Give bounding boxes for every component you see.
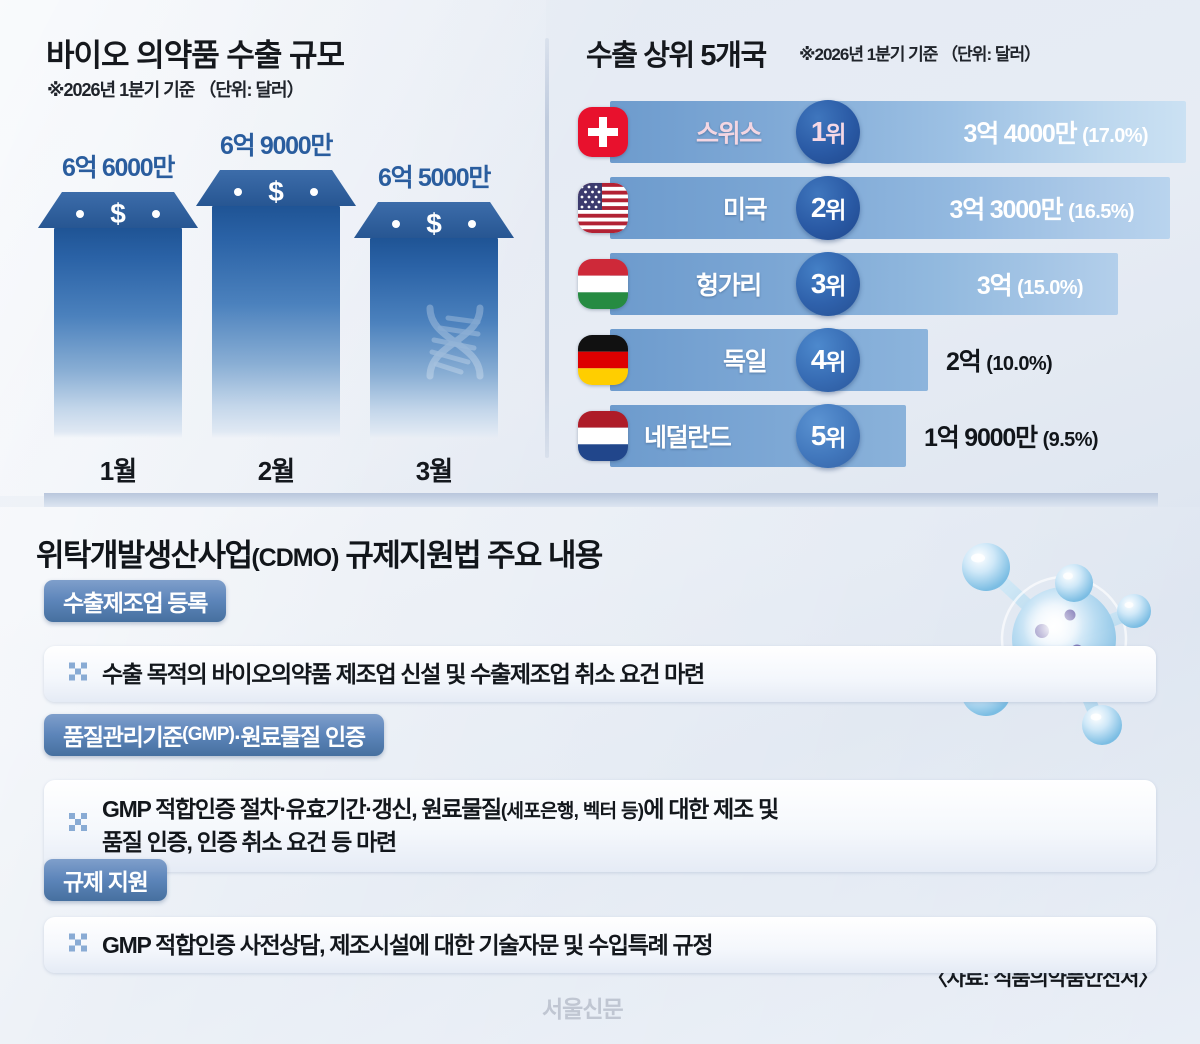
rank-number-3: 3 [811,268,825,300]
bar-body-jan [54,228,182,438]
cdmo-title-rest: 규제지원법 주요 내용 [338,538,601,573]
bar-label-feb: 2월 [258,451,294,488]
cdmo-law-panel: 위탁개발생산사업(CDMO) 규제지원법 주요 내용 수출제조업 등록 수출 목… [0,507,1200,1044]
rank-row-1[interactable]: 스위스 1위 3억 4000만 (17.0%) [568,101,1186,163]
flag-hungary-icon [578,259,628,309]
rank-number-1: 1 [811,116,825,148]
top5-countries-panel: 수출 상위 5개국 ※2026년 1분기 기준 （단위: 달러） 스위스 1위 … [546,0,1200,496]
rank-bar-4 [610,329,928,391]
bar-body-feb [212,206,340,438]
country-name-5: 네덜란드 [644,418,730,454]
bar-group-jan: 6억 6000만 $ 1월 [54,192,182,438]
section-tag-regulatory-support: 규제 지원 [44,859,167,901]
bar-label-mar: 3월 [416,451,452,488]
section-tag-label-2-main: 품질관리기준 [63,718,182,752]
bar-group-feb: 6억 9000만 $ 2월 [212,170,340,438]
svg-text:$: $ [110,198,126,229]
flag-germany-icon [578,335,628,385]
section-tag-gmp-certification: 품질관리기준(GMP)·원료물질 인증 [44,714,384,756]
rank-value-amount-1: 3억 4000만 [964,120,1077,148]
chart-subtitle: ※2026년 1분기 기준 （단위: 달러） [47,76,304,102]
rank-subtitle: ※2026년 1분기 기준 （단위: 달러） [799,40,1040,65]
bar-group-mar: 6억 5000만 $ [370,202,498,438]
rank-suffix-2: 위 [825,191,845,225]
rank-number-5: 5 [811,420,825,452]
section-body-2-small: (세포은행, 벡터 등) [501,801,643,822]
rank-value-percent-1: (17.0%) [1082,125,1148,147]
country-name-3: 헝가리 [696,266,761,302]
rank-value-amount-3: 3억 [977,272,1012,300]
section-body-3: GMP 적합인증 사전상담, 제조시설에 대한 기술자문 및 수입특례 규정 [102,929,712,962]
rank-value-percent-5: (9.5%) [1043,429,1098,451]
rank-suffix-1: 위 [825,115,845,149]
section-tag-label-2-rest: ·원료물질 인증 [234,718,365,752]
dna-helix-icon [416,286,494,387]
chevron-bullet-icon [68,660,90,689]
section-tag-label-3: 규제 지원 [63,863,148,897]
bar-value-mar: 6억 5000만 [378,158,490,194]
country-name-4: 독일 [723,342,766,378]
rank-number-4: 4 [811,344,825,376]
page-title: 위탁개발생산사업(CDMO) 규제지원법 주요 내용 [36,530,602,575]
section-body-2-pre: GMP 적합인증 절차·유효기간·갱신, 원료물질 [102,796,501,822]
rank-badge-4: 4위 [796,328,860,392]
section-tag-label-1: 수출제조업 등록 [63,584,207,618]
section-callout-3: GMP 적합인증 사전상담, 제조시설에 대한 기술자문 및 수입특례 규정 [44,917,1156,973]
bar-lid-jan: $ [38,192,198,232]
section-horizontal-divider [44,493,1158,507]
rank-suffix-5: 위 [825,419,845,453]
rank-value-amount-4: 2억 [946,348,981,376]
rank-row-3[interactable]: 헝가리 3위 3억 (15.0%) [568,253,1186,315]
bar-value-jan: 6억 6000만 [62,148,174,184]
rank-title: 수출 상위 5개국 [586,32,766,74]
flag-netherlands-icon [578,411,628,461]
rank-suffix-4: 위 [825,343,845,377]
rank-value-percent-2: (16.5%) [1068,201,1134,223]
rank-value-3: 3억 (15.0%) [977,266,1083,302]
section-callout-1: 수출 목적의 바이오의약품 제조업 신설 및 수출제조업 취소 요건 마련 [44,646,1156,702]
bar-body-mar [370,238,498,438]
section-body-2-post: 에 대한 제조 및 [643,796,777,822]
section-body-2-line2: 품질 인증, 인증 취소 요건 등 마련 [102,829,396,855]
rank-number-2: 2 [811,192,825,224]
rank-row-4[interactable]: 독일 4위 2억 (10.0%) [568,329,1186,391]
flag-switzerland-icon [578,107,628,157]
rank-value-percent-4: (10.0%) [986,353,1052,375]
export-scale-chart-panel: 바이오 의약품 수출 규모 ※2026년 1분기 기준 （단위: 달러） 6억 … [0,0,546,496]
section-body-1: 수출 목적의 바이오의약품 제조업 신설 및 수출제조업 취소 요건 마련 [102,658,704,691]
cdmo-title-main: 위탁개발생산사업 [36,538,251,573]
bar-lid-feb: $ [196,170,356,210]
rank-value-5: 1억 9000만 (9.5%) [924,418,1098,454]
svg-text:$: $ [426,208,442,239]
rank-suffix-3: 위 [825,267,845,301]
rank-badge-2: 2위 [796,176,860,240]
rank-badge-3: 3위 [796,252,860,316]
rank-badge-5: 5위 [796,404,860,468]
chevron-bullet-icon [68,931,90,960]
section-body-2: GMP 적합인증 절차·유효기간·갱신, 원료물질(세포은행, 벡터 등)에 대… [102,793,778,859]
section-tag-export-registration: 수출제조업 등록 [44,580,226,622]
section-tag-label-2-paren: (GMP) [182,724,234,746]
chevron-bullet-icon [68,810,90,839]
rank-badge-1: 1위 [796,100,860,164]
country-name-2: 미국 [723,190,766,226]
cdmo-title-paren: (CDMO) [251,544,338,572]
rank-row-2[interactable]: 미국 2위 3억 3000만 (16.5%) [568,177,1186,239]
flag-usa-icon [578,183,628,233]
rank-value-amount-5: 1억 9000만 [924,424,1037,452]
chart-title: 바이오 의약품 수출 규모 [46,30,344,75]
rank-row-5[interactable]: 네덜란드 5위 1억 9000만 (9.5%) [568,405,1186,467]
bar-value-feb: 6억 9000만 [220,126,332,162]
rank-value-amount-2: 3억 3000만 [950,196,1063,224]
publisher-watermark: 서울신문 [542,990,623,1024]
rank-value-2: 3억 3000만 (16.5%) [950,190,1134,226]
bar-label-jan: 1월 [100,451,136,488]
rank-value-1: 3억 4000만 (17.0%) [964,114,1148,150]
country-name-1: 스위스 [696,114,761,150]
rank-value-percent-3: (15.0%) [1017,277,1083,299]
svg-text:$: $ [268,176,284,207]
rank-value-4: 2억 (10.0%) [946,342,1052,378]
section-callout-2: GMP 적합인증 절차·유효기간·갱신, 원료물질(세포은행, 벡터 등)에 대… [44,780,1156,872]
bar-lid-mar: $ [354,202,514,242]
